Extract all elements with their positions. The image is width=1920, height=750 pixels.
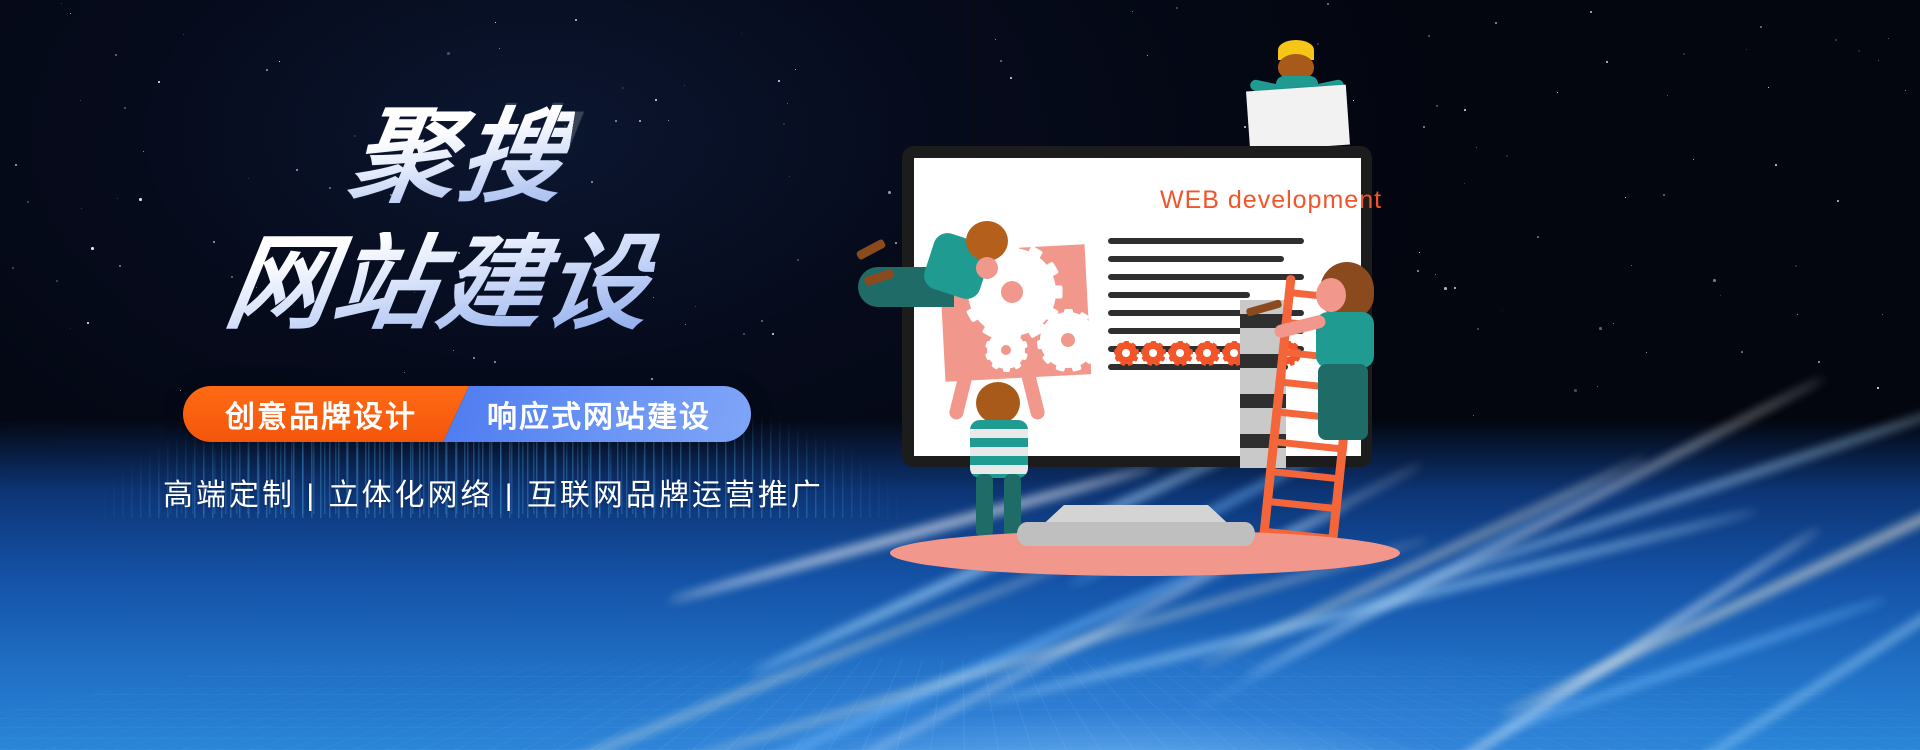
page-title-sub: 网站建设 [220, 232, 660, 336]
legs [976, 474, 993, 538]
face [1316, 278, 1346, 312]
hair [976, 382, 1020, 424]
worker-on-ladder [1268, 262, 1398, 462]
illustration: WEB development [840, 0, 1920, 750]
monitor-stand-base [1017, 522, 1255, 546]
hero-banner: 聚搜 网站建设 创意品牌设计 响应式网站建设 高端定制 | 立体化网络 | 互联… [0, 0, 1920, 750]
service-badge: 创意品牌设计 响应式网站建设 [183, 386, 828, 442]
gear-hole [1149, 349, 1157, 357]
badge-segment-responsive[interactable]: 响应式网站建设 [443, 386, 751, 442]
gear-hole [1001, 345, 1011, 355]
content-line [1108, 238, 1304, 244]
gear-hole [1122, 349, 1130, 357]
arm-left [948, 367, 974, 421]
gear-hole [1176, 349, 1184, 357]
ladder-rung [1263, 497, 1341, 512]
gear-icon-strip [1115, 342, 1137, 364]
striped-shirt [970, 420, 1028, 478]
gear-hole [1203, 349, 1211, 357]
tagline: 高端定制 | 立体化网络 | 互联网品牌运营推广 [163, 470, 824, 514]
paintbrush-icon [856, 238, 887, 260]
badge-label-responsive: 响应式网站建设 [487, 392, 711, 436]
badge-label-creative: 创意品牌设计 [225, 392, 417, 436]
worker-flying-left [850, 215, 1010, 325]
legs [1318, 364, 1368, 440]
content-line [1108, 256, 1284, 262]
screen-headline: WEB development [1160, 186, 1382, 215]
gear-hole [1061, 333, 1075, 347]
gear-icon-strip [1142, 342, 1164, 364]
gear-hole [1230, 349, 1238, 357]
copy-block: 聚搜 网站建设 创意品牌设计 响应式网站建设 高端定制 | 立体化网络 | 互联… [0, 0, 900, 750]
content-line [1108, 292, 1250, 298]
worker-lifting [948, 358, 1058, 548]
page-title-main: 聚搜 [344, 105, 576, 209]
badge-segment-creative[interactable]: 创意品牌设计 [183, 386, 469, 442]
hand [976, 257, 998, 279]
ladder-rung [1266, 468, 1344, 483]
arm-right [1020, 367, 1046, 421]
blueprint-icon [1246, 85, 1350, 152]
gear-icon-strip [1169, 342, 1191, 364]
gear-icon-strip [1196, 342, 1218, 364]
hair [966, 221, 1008, 261]
